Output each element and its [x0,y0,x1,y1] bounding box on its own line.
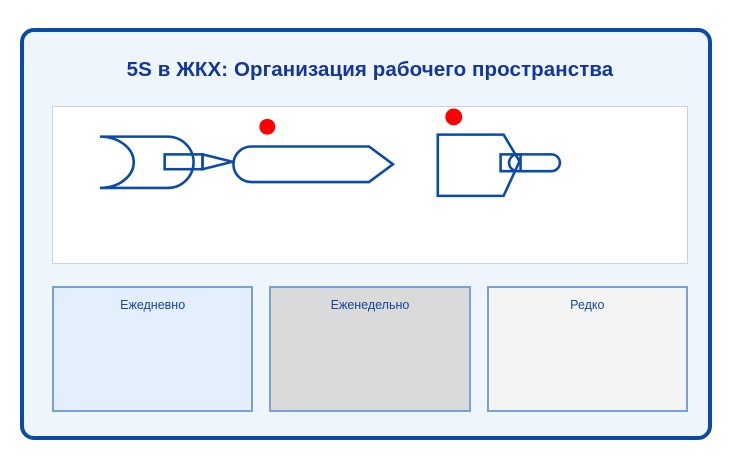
red-marker-dot-icon [445,108,462,125]
shape-mop-tool-outline [233,119,392,182]
frequency-card-label: Редко [489,298,686,312]
mop-body [233,146,392,182]
frequency-card-weekly[interactable]: Еженедельно [269,286,470,412]
frequency-card-label: Еженедельно [271,298,468,312]
shape-broom-tool-outline [100,137,233,188]
diagram-panel [52,106,688,264]
broom-arrow-tip [203,154,233,169]
shovel-blade [438,135,520,196]
slide-frame: 5S в ЖКХ: Организация рабочего пространс… [20,28,712,440]
page-title: 5S в ЖКХ: Организация рабочего пространс… [24,58,716,82]
broom-body [100,137,194,188]
diagram-canvas [53,107,687,263]
frequency-card-rarely[interactable]: Редко [487,286,688,412]
frequency-card-label: Ежедневно [54,298,251,312]
frequency-cards-row: Ежедневно Еженедельно Редко [52,286,688,412]
red-marker-dot-icon [259,119,275,135]
broom-neck [165,154,203,169]
frequency-card-daily[interactable]: Ежедневно [52,286,253,412]
shape-shovel-tool-outline [438,108,560,195]
